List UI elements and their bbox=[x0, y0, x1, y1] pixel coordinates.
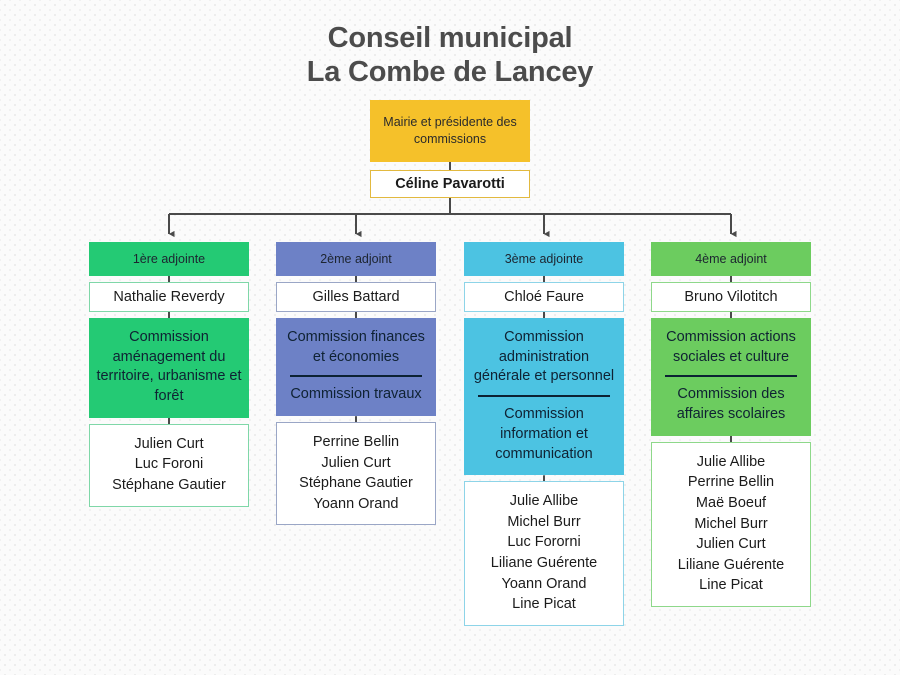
root-name-box[interactable]: Céline Pavarotti bbox=[370, 170, 530, 198]
branch-1-role-label: 1ère adjointe bbox=[133, 252, 205, 266]
list-item: Luc Foroni bbox=[94, 454, 244, 475]
branch-1-name-box[interactable]: Nathalie Reverdy bbox=[89, 282, 249, 312]
branch-2-name-box[interactable]: Gilles Battard bbox=[276, 282, 436, 312]
list-item: Liliane Guérente bbox=[469, 553, 619, 574]
branch-1-members-box[interactable]: Julien Curt Luc Foroni Stéphane Gautier bbox=[89, 424, 249, 507]
branch-3-commission-2: Commission information et communication bbox=[470, 405, 618, 464]
list-item: Yoann Orand bbox=[469, 574, 619, 595]
branch-3-name-box[interactable]: Chloé Faure bbox=[464, 282, 624, 312]
branch-4-name-box[interactable]: Bruno Vilotitch bbox=[651, 282, 811, 312]
branch-column-4: 4ème adjoint Bruno Vilotitch Commission … bbox=[651, 242, 811, 607]
branch-1-commission-1: Commission aménagement du territoire, ur… bbox=[95, 328, 243, 407]
org-chart: Conseil municipal La Combe de Lancey Mai… bbox=[0, 0, 900, 675]
branch-3-role-box[interactable]: 3ème adjointe bbox=[464, 242, 624, 276]
branch-1-commission-box[interactable]: Commission aménagement du territoire, ur… bbox=[89, 318, 249, 418]
list-item: Luc Fororni bbox=[469, 532, 619, 553]
branch-4-name-label: Bruno Vilotitch bbox=[684, 289, 777, 305]
branch-2-members-box[interactable]: Perrine Bellin Julien Curt Stéphane Gaut… bbox=[276, 422, 436, 525]
title-line-1: Conseil municipal bbox=[328, 22, 573, 54]
branch-3-name-label: Chloé Faure bbox=[504, 289, 584, 305]
branch-2-commission-box[interactable]: Commission finances et économies Commiss… bbox=[276, 318, 436, 416]
branch-4-role-label: 4ème adjoint bbox=[695, 252, 767, 266]
list-item: Yoann Orand bbox=[281, 494, 431, 515]
list-item: Maë Boeuf bbox=[656, 493, 806, 514]
list-item: Stéphane Gautier bbox=[281, 473, 431, 494]
branch-4-commission-box[interactable]: Commission actions sociales et culture C… bbox=[651, 318, 811, 436]
branch-4-commission-2: Commission des affaires scolaires bbox=[657, 385, 805, 424]
branch-2-role-box[interactable]: 2ème adjoint bbox=[276, 242, 436, 276]
branch-4-members-box[interactable]: Julie Allibe Perrine Bellin Maë Boeuf Mi… bbox=[651, 442, 811, 607]
list-item: Julie Allibe bbox=[656, 452, 806, 473]
root-role-label: Mairie et présidente des commissions bbox=[370, 114, 530, 148]
list-item: Line Picat bbox=[469, 594, 619, 615]
commission-divider bbox=[290, 375, 422, 377]
branch-2-commission-1: Commission finances et économies bbox=[282, 328, 430, 367]
title-line-2: La Combe de Lancey bbox=[0, 56, 900, 90]
list-item: Julie Allibe bbox=[469, 491, 619, 512]
commission-divider bbox=[478, 395, 610, 397]
commission-divider bbox=[665, 375, 797, 377]
list-item: Perrine Bellin bbox=[281, 432, 431, 453]
branch-1-name-label: Nathalie Reverdy bbox=[113, 289, 224, 305]
branch-column-1: 1ère adjointe Nathalie Reverdy Commissio… bbox=[89, 242, 249, 507]
list-item: Julien Curt bbox=[656, 534, 806, 555]
list-item: Julien Curt bbox=[94, 434, 244, 455]
list-item: Stéphane Gautier bbox=[94, 475, 244, 496]
branch-2-commission-2: Commission travaux bbox=[282, 385, 430, 405]
root-name-label: Céline Pavarotti bbox=[395, 176, 505, 192]
list-item: Perrine Bellin bbox=[656, 472, 806, 493]
branch-3-role-label: 3ème adjointe bbox=[505, 252, 584, 266]
root-role-box[interactable]: Mairie et présidente des commissions bbox=[370, 100, 530, 162]
branch-3-members-box[interactable]: Julie Allibe Michel Burr Luc Fororni Lil… bbox=[464, 481, 624, 625]
branch-1-role-box[interactable]: 1ère adjointe bbox=[89, 242, 249, 276]
list-item: Michel Burr bbox=[656, 514, 806, 535]
list-item: Liliane Guérente bbox=[656, 555, 806, 576]
list-item: Michel Burr bbox=[469, 512, 619, 533]
branch-column-2: 2ème adjoint Gilles Battard Commission f… bbox=[276, 242, 436, 525]
branch-3-commission-1: Commission administration générale et pe… bbox=[470, 328, 618, 387]
branch-4-commission-1: Commission actions sociales et culture bbox=[657, 328, 805, 367]
branch-2-role-label: 2ème adjoint bbox=[320, 252, 392, 266]
list-item: Line Picat bbox=[656, 575, 806, 596]
page-title: Conseil municipal La Combe de Lancey bbox=[0, 22, 900, 89]
branch-4-role-box[interactable]: 4ème adjoint bbox=[651, 242, 811, 276]
list-item: Julien Curt bbox=[281, 453, 431, 474]
branch-2-name-label: Gilles Battard bbox=[312, 289, 399, 305]
branch-3-commission-box[interactable]: Commission administration générale et pe… bbox=[464, 318, 624, 475]
branch-column-3: 3ème adjointe Chloé Faure Commission adm… bbox=[464, 242, 624, 626]
